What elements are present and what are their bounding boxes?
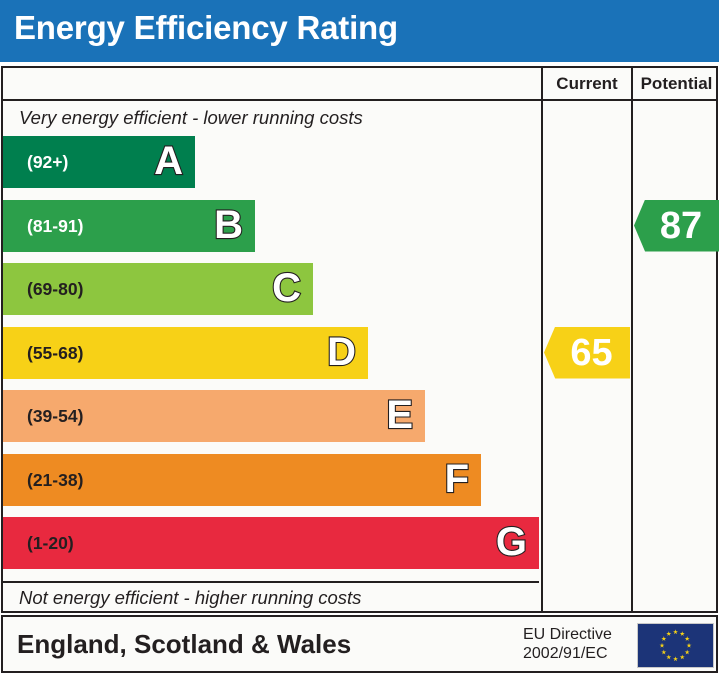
eu-flag-stars	[638, 624, 713, 667]
eu-star	[687, 643, 692, 648]
band-range-label-a: (92+)	[27, 136, 68, 188]
band-letter-a: A	[154, 136, 183, 188]
eu-directive-line1: EU Directive	[523, 625, 631, 644]
band-letter-g: G	[496, 517, 527, 569]
eu-star	[673, 656, 678, 661]
current-rating-badge: 65	[544, 327, 630, 379]
eu-star	[666, 655, 671, 660]
band-letter-e: E	[386, 390, 413, 442]
rating-chart-table: Current Potential Very energy efficient …	[1, 66, 718, 613]
band-range-label-b: (81-91)	[27, 200, 83, 252]
rating-band-f: (21-38)F	[3, 454, 481, 506]
eu-star	[666, 631, 671, 636]
rating-band-g: (1-20)G	[3, 517, 539, 569]
column-divider-potential	[631, 68, 633, 611]
band-letter-b: B	[214, 200, 243, 252]
eu-star	[661, 650, 666, 655]
rating-band-b: (81-91)B	[3, 200, 255, 252]
eu-star	[673, 629, 678, 634]
caption-not-efficient: Not energy efficient - higher running co…	[3, 581, 539, 613]
footer-bar: England, Scotland & Wales EU Directive 2…	[1, 615, 718, 673]
caption-very-efficient: Very energy efficient - lower running co…	[3, 101, 539, 135]
band-letter-f: F	[445, 454, 469, 506]
column-header-current: Current	[543, 68, 631, 99]
eu-star	[680, 655, 685, 660]
eu-directive-line2: 2002/91/EC	[523, 644, 631, 663]
band-range-label-d: (55-68)	[27, 327, 83, 379]
page-title: Energy Efficiency Rating	[14, 9, 398, 47]
region-label: England, Scotland & Wales	[17, 629, 351, 660]
eu-star	[680, 631, 685, 636]
rating-band-a: (92+)A	[3, 136, 195, 188]
rating-bands-group: (92+)A(81-91)B(69-80)C(55-68)D(39-54)E(2…	[3, 136, 539, 581]
table-header-row: Current Potential	[3, 68, 716, 101]
eu-star	[685, 650, 690, 655]
column-divider-current	[541, 68, 543, 611]
rating-band-e: (39-54)E	[3, 390, 425, 442]
band-range-label-g: (1-20)	[27, 517, 74, 569]
eu-flag-icon	[637, 623, 714, 668]
band-letter-c: C	[272, 263, 301, 315]
eu-star	[661, 636, 666, 641]
rating-band-d: (55-68)D	[3, 327, 368, 379]
eu-star	[660, 643, 665, 648]
rating-band-c: (69-80)C	[3, 263, 313, 315]
potential-rating-badge: 87	[634, 200, 719, 252]
eu-star	[685, 636, 690, 641]
eu-directive-label: EU Directive 2002/91/EC	[523, 625, 631, 663]
band-range-label-f: (21-38)	[27, 454, 83, 506]
band-range-label-e: (39-54)	[27, 390, 83, 442]
band-letter-d: D	[327, 327, 356, 379]
title-banner: Energy Efficiency Rating	[0, 0, 719, 62]
column-header-potential: Potential	[633, 68, 719, 99]
band-range-label-c: (69-80)	[27, 263, 83, 315]
energy-efficiency-rating-certificate: Energy Efficiency Rating Current Potenti…	[0, 0, 719, 675]
